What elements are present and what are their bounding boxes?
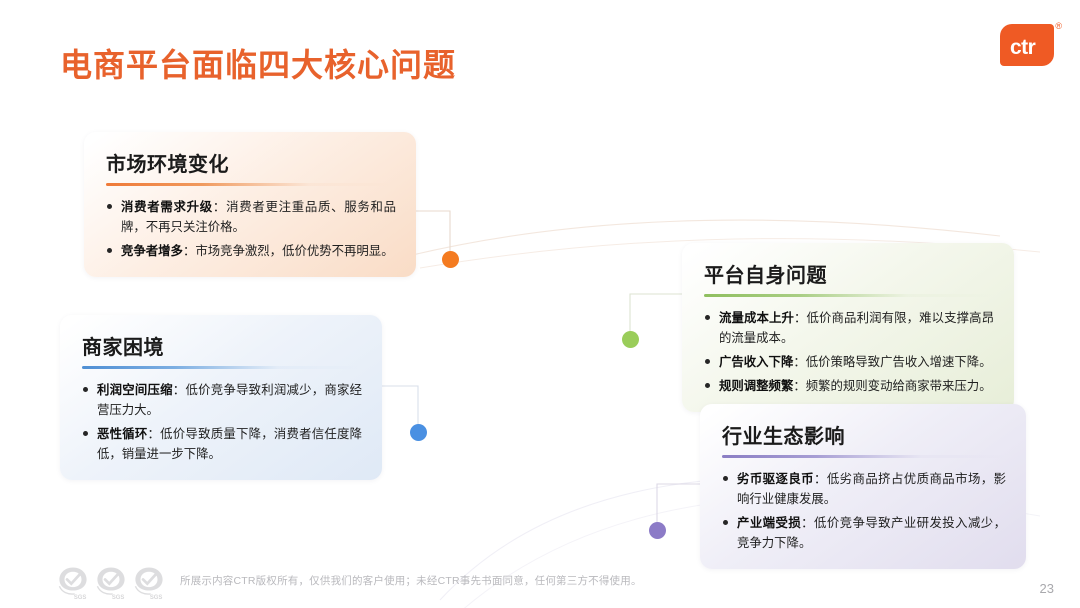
bullet-separator: ：	[793, 355, 805, 369]
copyright-note: 所展示内容CTR版权所有，仅供我们的客户使用；未经CTR事先书面同意，任何第三方…	[180, 573, 642, 592]
card-title: 商家困境	[82, 337, 362, 359]
card-bullet-list: 利润空间压缩：低价竞争导致利润减少，商家经营压力大。 恶性循环：低价导致质量下降…	[82, 380, 362, 464]
bullet-separator: ：	[183, 244, 195, 258]
list-item: 消费者需求升级：消费者更注重品质、服务和品牌，不再只关注价格。	[106, 197, 396, 237]
card-accent-rule	[106, 183, 396, 186]
svg-text:SGS: SGS	[74, 595, 87, 600]
registered-trademark-icon: ®	[1055, 22, 1062, 31]
list-item: 产业端受损：低价竞争导致产业研发投入减少，竞争力下降。	[722, 513, 1006, 553]
card-title: 市场环境变化	[106, 154, 396, 176]
ctr-logo: ctr ®	[996, 20, 1062, 70]
bullet-separator: ：	[814, 472, 827, 486]
sgs-badge-icon: SGS	[56, 564, 90, 600]
card-bullet-list: 流量成本上升：低价商品利润有限，难以支撑高昂的流量成本。 广告收入下降：低价策略…	[704, 308, 994, 396]
list-item: 广告收入下降：低价策略导致广告收入增速下降。	[704, 352, 994, 372]
card-accent-rule	[82, 366, 362, 369]
list-item: 恶性循环：低价导致质量下降，消费者信任度降低，销量进一步下降。	[82, 424, 362, 464]
svg-text:SGS: SGS	[150, 595, 163, 600]
list-item: 流量成本上升：低价商品利润有限，难以支撑高昂的流量成本。	[704, 308, 994, 348]
bullet-separator: ：	[148, 427, 161, 441]
bullet-term: 消费者需求升级	[121, 200, 213, 214]
connector-dot-industry	[649, 522, 666, 539]
list-item: 利润空间压缩：低价竞争导致利润减少，商家经营压力大。	[82, 380, 362, 420]
svg-text:SGS: SGS	[112, 595, 125, 600]
sgs-certification-badges: SGS SGS SGS	[56, 564, 170, 600]
bullet-term: 竞争者增多	[121, 244, 183, 258]
card-merchant-difficulties[interactable]: 商家困境 利润空间压缩：低价竞争导致利润减少，商家经营压力大。 恶性循环：低价导…	[60, 315, 382, 480]
card-bullet-list: 消费者需求升级：消费者更注重品质、服务和品牌，不再只关注价格。 竞争者增多：市场…	[106, 197, 396, 261]
footer: SGS SGS SGS 所展示内容CTR版权所有，仅供我们的客户使用；未经CTR…	[56, 564, 642, 600]
card-accent-rule	[704, 294, 994, 297]
bullet-text: 市场竞争激烈，低价优势不再明显。	[195, 244, 393, 258]
list-item: 劣币驱逐良币：低劣商品挤占优质商品市场，影响行业健康发展。	[722, 469, 1006, 509]
ctr-logo-text: ctr	[1010, 37, 1035, 58]
connector-dot-platform	[622, 331, 639, 348]
card-platform-issues[interactable]: 平台自身问题 流量成本上升：低价商品利润有限，难以支撑高昂的流量成本。 广告收入…	[682, 243, 1014, 412]
page-number: 23	[1040, 581, 1054, 596]
card-title: 行业生态影响	[722, 426, 1006, 448]
bullet-term: 规则调整频繁	[719, 379, 793, 393]
bullet-separator: ：	[173, 383, 186, 397]
slide-canvas: ctr ® 电商平台面临四大核心问题 市场环境变化 消费者需求升级：消费者更注重…	[0, 0, 1080, 608]
bullet-separator: ：	[794, 311, 807, 325]
card-industry-ecosystem-impact[interactable]: 行业生态影响 劣币驱逐良币：低劣商品挤占优质商品市场，影响行业健康发展。 产业端…	[700, 404, 1026, 569]
bullet-term: 流量成本上升	[719, 311, 794, 325]
card-market-environment[interactable]: 市场环境变化 消费者需求升级：消费者更注重品质、服务和品牌，不再只关注价格。 竞…	[84, 132, 416, 277]
bullet-term: 广告收入下降	[719, 355, 793, 369]
bullet-term: 产业端受损	[737, 516, 801, 530]
card-accent-rule	[722, 455, 1006, 458]
bullet-separator: ：	[793, 379, 805, 393]
bullet-term: 恶性循环	[97, 427, 148, 441]
bullet-separator: ：	[801, 516, 814, 530]
connector-dot-merchant	[410, 424, 427, 441]
card-title: 平台自身问题	[704, 265, 994, 287]
bullet-text: 频繁的规则变动给商家带来压力。	[806, 379, 992, 393]
list-item: 规则调整频繁：频繁的规则变动给商家带来压力。	[704, 376, 994, 396]
connector-dot-market	[442, 251, 459, 268]
list-item: 竞争者增多：市场竞争激烈，低价优势不再明显。	[106, 241, 396, 261]
page-title: 电商平台面临四大核心问题	[60, 40, 456, 86]
card-bullet-list: 劣币驱逐良币：低劣商品挤占优质商品市场，影响行业健康发展。 产业端受损：低价竞争…	[722, 469, 1006, 553]
bullet-term: 劣币驱逐良币	[737, 472, 814, 486]
bullet-term: 利润空间压缩	[97, 383, 173, 397]
sgs-badge-icon: SGS	[132, 564, 166, 600]
bullet-text: 低价策略导致广告收入增速下降。	[806, 355, 992, 369]
bullet-separator: ：	[213, 200, 226, 214]
sgs-badge-icon: SGS	[94, 564, 128, 600]
